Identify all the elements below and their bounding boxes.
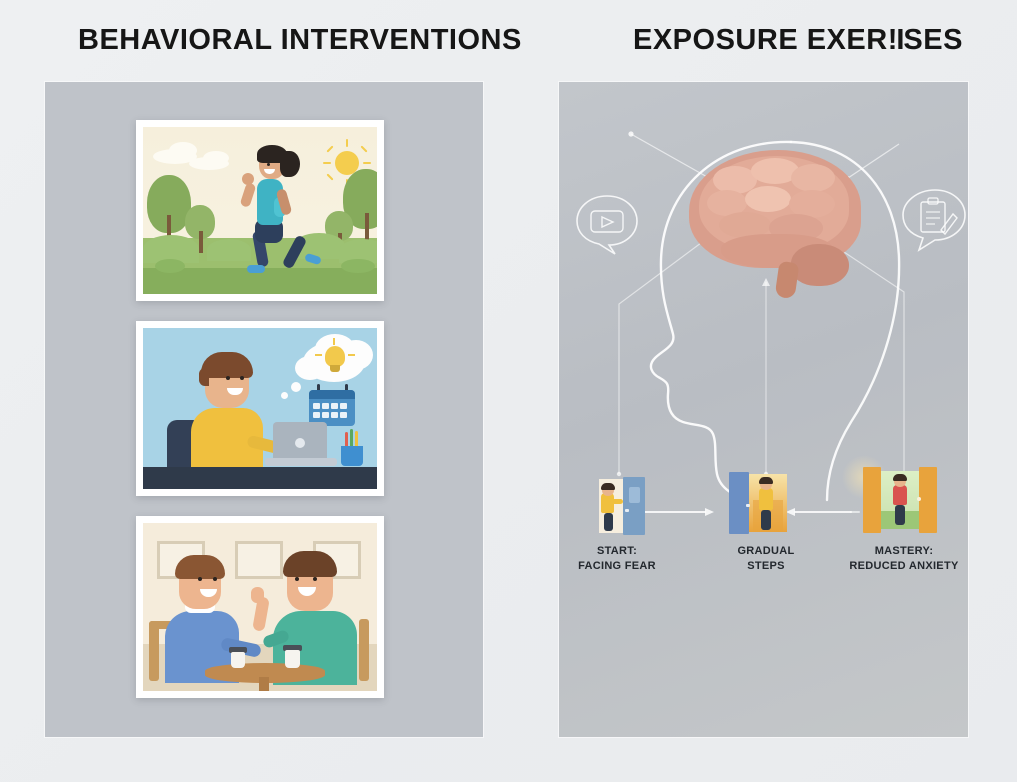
- photo-card-cafe-conversation[interactable]: [136, 516, 384, 698]
- step-label-1: START: FACING FEAR: [559, 544, 697, 574]
- title-right-part2: SES: [903, 24, 963, 56]
- title-right-glitch-glyph: !I: [888, 24, 904, 56]
- photo-card-woman-jogging[interactable]: [136, 120, 384, 301]
- scene-cafe-chat: [143, 523, 377, 691]
- page-title-left: BEHAVIORAL INTERVENTIONS: [78, 24, 522, 57]
- brain-illustration: [685, 146, 865, 298]
- panel-exposure-exercises: START: FACING FEAR GRADUAL STEPS: [559, 82, 968, 737]
- video-play-bubble[interactable]: [571, 192, 643, 261]
- title-right-part1: EXPOSURE EXER: [633, 24, 888, 56]
- step-door-3[interactable]: [861, 467, 947, 533]
- play-video-icon: [591, 211, 623, 232]
- panel-behavioral-interventions: [45, 82, 483, 737]
- photo-card-man-at-laptop[interactable]: [136, 321, 384, 496]
- page-title-right: EXPOSURE EXER!ISES: [633, 24, 963, 57]
- clipboard-notes-bubble[interactable]: [897, 186, 968, 257]
- step-label-2: GRADUAL STEPS: [686, 544, 846, 574]
- step-door-2[interactable]: [727, 472, 803, 534]
- scene-desk-work: [143, 328, 377, 489]
- step-label-3: MASTERY: REDUCED ANXIETY: [824, 544, 968, 574]
- scene-park-jogging: [143, 127, 377, 294]
- clipboard-pencil-icon: [921, 202, 945, 232]
- step-door-1[interactable]: [579, 477, 655, 535]
- infographic-canvas: BEHAVIORAL INTERVENTIONS EXPOSURE EXER!I…: [0, 0, 1017, 782]
